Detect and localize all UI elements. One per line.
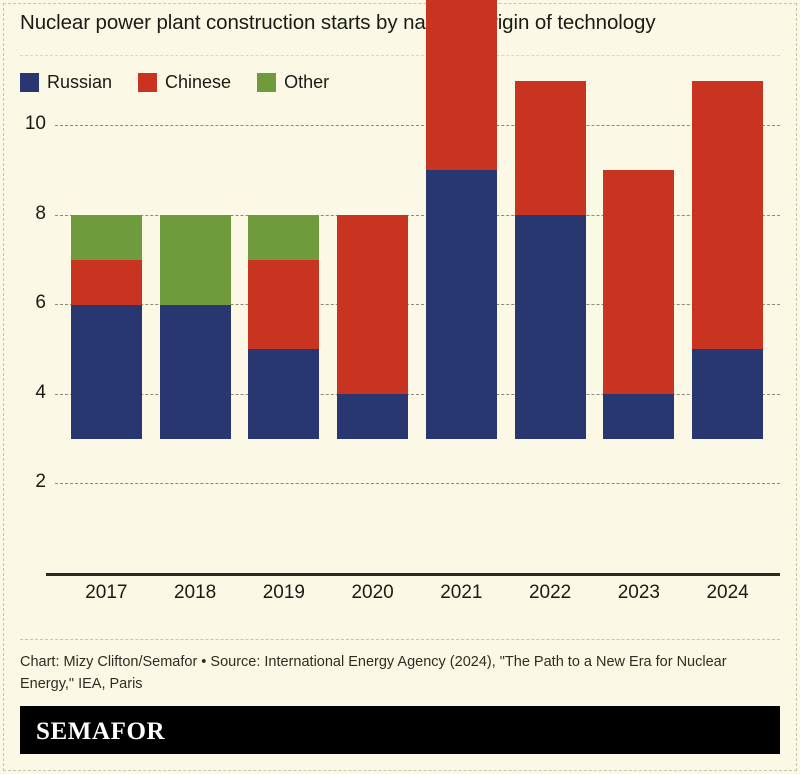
bar-stack[interactable] bbox=[426, 0, 497, 439]
bar-segment-chinese[interactable] bbox=[337, 215, 408, 394]
bar-segment-russian[interactable] bbox=[515, 215, 586, 439]
gridline-10 bbox=[55, 125, 780, 126]
bar-segment-other[interactable] bbox=[71, 215, 142, 260]
y-axis-tick-4: 4 bbox=[6, 382, 46, 404]
bar-stack[interactable] bbox=[160, 215, 231, 439]
chart-credit: Chart: Mizy Clifton/Semafor • Source: In… bbox=[20, 652, 772, 696]
bar-segment-chinese[interactable] bbox=[426, 0, 497, 170]
x-axis-line bbox=[46, 573, 780, 576]
bar-stack[interactable] bbox=[603, 170, 674, 439]
bar-segment-other[interactable] bbox=[160, 215, 231, 305]
x-axis-tick-2017: 2017 bbox=[71, 582, 142, 604]
bar-stack[interactable] bbox=[248, 215, 319, 439]
bar-stack[interactable] bbox=[337, 215, 408, 439]
y-axis-tick-2: 2 bbox=[6, 471, 46, 493]
bar-segment-chinese[interactable] bbox=[515, 81, 586, 215]
x-axis-tick-2021: 2021 bbox=[426, 582, 497, 604]
bar-segment-russian[interactable] bbox=[160, 305, 231, 439]
bar-segment-chinese[interactable] bbox=[71, 260, 142, 305]
bar-segment-chinese[interactable] bbox=[603, 170, 674, 394]
y-axis-tick-10: 10 bbox=[6, 113, 46, 135]
bar-segment-chinese[interactable] bbox=[692, 81, 763, 350]
bar-segment-russian[interactable] bbox=[248, 349, 319, 439]
plot-area: 24681020172018201920202021202220232024 bbox=[0, 0, 800, 640]
x-axis-tick-2019: 2019 bbox=[248, 582, 319, 604]
y-axis-tick-6: 6 bbox=[6, 292, 46, 314]
footer-divider bbox=[20, 639, 780, 640]
x-axis-tick-2020: 2020 bbox=[337, 582, 408, 604]
bar-segment-russian[interactable] bbox=[692, 349, 763, 439]
x-axis-tick-2023: 2023 bbox=[603, 582, 674, 604]
x-axis-tick-2022: 2022 bbox=[515, 582, 586, 604]
bar-stack[interactable] bbox=[515, 81, 586, 439]
bar-segment-russian[interactable] bbox=[426, 170, 497, 439]
bar-stack[interactable] bbox=[692, 81, 763, 439]
bar-segment-other[interactable] bbox=[248, 215, 319, 260]
bar-segment-chinese[interactable] bbox=[248, 260, 319, 350]
x-axis-tick-2018: 2018 bbox=[160, 582, 231, 604]
bar-segment-russian[interactable] bbox=[71, 305, 142, 439]
x-axis-tick-2024: 2024 bbox=[692, 582, 763, 604]
gridline-2 bbox=[55, 483, 780, 484]
bar-segment-russian[interactable] bbox=[337, 394, 408, 439]
bar-stack[interactable] bbox=[71, 215, 142, 439]
bar-segment-russian[interactable] bbox=[603, 394, 674, 439]
semafor-logo-text: SEMAFOR bbox=[36, 718, 165, 746]
y-axis-tick-8: 8 bbox=[6, 203, 46, 225]
chart-card: Nuclear power plant construction starts … bbox=[0, 0, 800, 774]
